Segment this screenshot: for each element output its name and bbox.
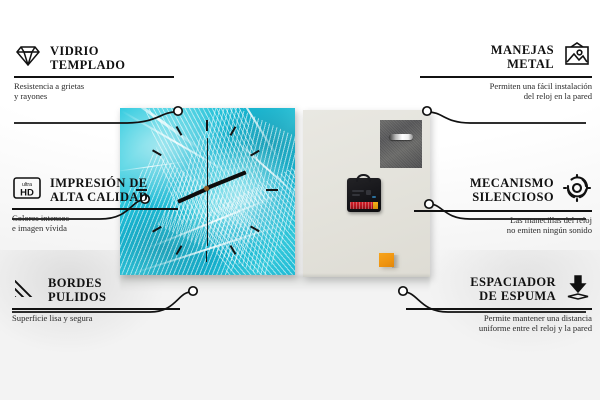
svg-text:HD: HD (20, 188, 34, 199)
callout-desc: Las manecillas del reloj no emiten ningú… (414, 215, 592, 236)
battery-part (350, 202, 378, 209)
clock-tick (266, 189, 278, 191)
callout-rule (12, 308, 180, 310)
metal-hanger-part (380, 120, 422, 168)
callout-rule (14, 76, 174, 78)
callout-desc: Superficie lisa y segura (12, 313, 180, 324)
callout-impresion-alta-calidad: ultra HD IMPRESIÓN DE ALTA CALIDAD Color… (12, 176, 178, 234)
clock-second-hand (207, 138, 208, 246)
callout-title: MANEJAS METAL (491, 44, 554, 71)
picture-hanger-icon (562, 42, 592, 73)
battery-cap (373, 202, 378, 209)
clock-center-pin (204, 186, 209, 191)
hanger-slot (389, 134, 413, 140)
callout-rule (414, 210, 592, 212)
callout-desc: Permite mantener una distancia uniforme … (406, 313, 592, 334)
quartz-mechanism-part (347, 178, 381, 212)
callout-title: VIDRIO TEMPLADO (50, 45, 125, 72)
product-infographic: VIDRIO TEMPLADO Resistencia a grietas y … (0, 0, 600, 400)
callout-desc: Permiten una fácil instalación del reloj… (420, 81, 592, 102)
ultra-hd-badge-icon: ultra HD (12, 176, 42, 205)
callout-title: BORDES PULIDOS (48, 277, 106, 304)
callout-rule (12, 208, 178, 210)
callout-title: MECANISMO SILENCIOSO (470, 177, 554, 204)
callout-desc: Resistencia a grietas y rayones (14, 81, 174, 102)
clock-back-panel (303, 110, 430, 277)
callout-bordes-pulidos: BORDES PULIDOS Superficie lisa y segura (12, 276, 180, 323)
diamond-icon (14, 44, 42, 73)
callout-vidrio-templado: VIDRIO TEMPLADO Resistencia a grietas y … (14, 44, 174, 102)
gear-icon (562, 174, 592, 207)
callout-desc: Colores intensos e imagen vívida (12, 213, 178, 234)
callout-rule (406, 308, 592, 310)
clock-tick (206, 251, 207, 262)
callout-espaciador-de-espuma: ESPACIADOR DE ESPUMA Permite mantener un… (406, 274, 592, 334)
polished-edge-icon (12, 276, 40, 305)
callout-title: ESPACIADOR DE ESPUMA (470, 276, 556, 303)
callout-manejas-metal: MANEJAS METAL Permiten una fácil instala… (420, 42, 592, 102)
callout-title: IMPRESIÓN DE ALTA CALIDAD (50, 177, 148, 204)
foam-spacer-arrow-icon (564, 274, 592, 305)
foam-spacer-part (379, 253, 394, 267)
clock-tick (206, 120, 208, 131)
callout-mecanismo-silencioso: MECANISMO SILENCIOSO Las manecillas del … (414, 174, 592, 236)
mechanism-hook (356, 174, 371, 182)
callout-rule (420, 76, 592, 78)
